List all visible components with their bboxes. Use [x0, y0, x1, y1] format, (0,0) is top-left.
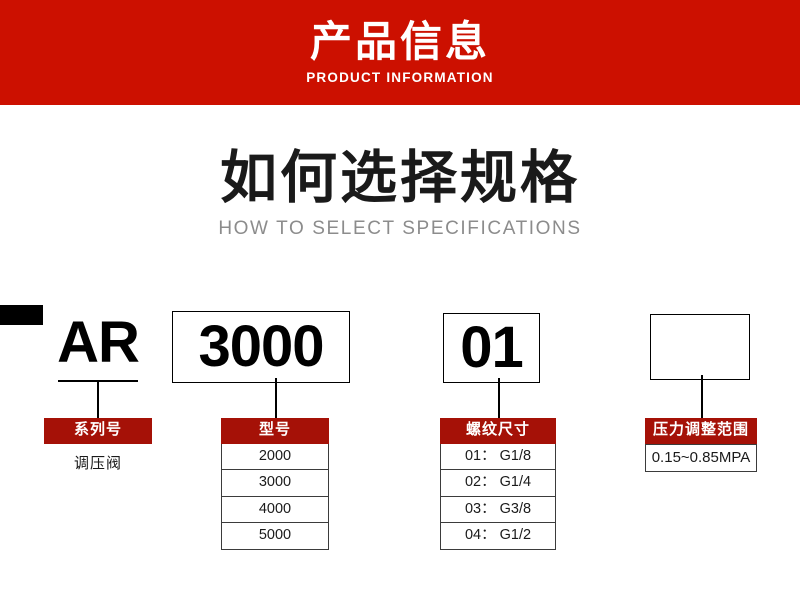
banner-title-chinese: 产品信息 [310, 20, 490, 64]
list-item: 01： G1/8 [441, 444, 555, 471]
legend-list-model: 2000 3000 4000 5000 [221, 444, 329, 550]
legend-value-pressure: 0.15~0.85MPA [645, 444, 757, 472]
model-code-row: AR 3000 01 [0, 305, 800, 385]
page-banner: 产品信息 PRODUCT INFORMATION [0, 0, 800, 105]
section-heading: 如何选择规格 HOW TO SELECT SPECIFICATIONS [0, 148, 800, 240]
legend-column-model: 型号 2000 3000 4000 5000 [221, 418, 329, 550]
legend-column-thread: 螺纹尺寸 01： G1/8 02： G1/4 03： G3/8 04： G1/2 [440, 418, 556, 550]
code-segment-model: 3000 [172, 311, 350, 383]
connector-drop-thread [498, 378, 500, 418]
legend-column-series: 系列号 调压阀 [44, 418, 152, 473]
legend-value-series: 调压阀 [44, 444, 152, 473]
legend-header-series: 系列号 [44, 418, 152, 444]
legend-header-model: 型号 [221, 418, 329, 444]
section-title-english: HOW TO SELECT SPECIFICATIONS [0, 218, 800, 240]
connector-drop-pressure [701, 375, 703, 418]
connector-drop-model [275, 378, 277, 418]
section-title-chinese: 如何选择规格 [0, 148, 800, 210]
list-item: 5000 [222, 523, 328, 549]
legend-header-thread: 螺纹尺寸 [440, 418, 556, 444]
code-separator-dash-2 [0, 315, 43, 325]
list-item: 3000 [222, 470, 328, 497]
code-segment-pressure [650, 314, 750, 380]
list-item: 02： G1/4 [441, 470, 555, 497]
connector-drop-series [97, 380, 99, 418]
legend-header-pressure: 压力调整范围 [645, 418, 757, 444]
legend-list-thread: 01： G1/8 02： G1/4 03： G3/8 04： G1/2 [440, 444, 556, 550]
list-item: 04： G1/2 [441, 523, 555, 549]
banner-title-english: PRODUCT INFORMATION [306, 70, 494, 85]
code-segment-series: AR [52, 307, 144, 379]
list-item: 03： G3/8 [441, 497, 555, 524]
list-item: 4000 [222, 497, 328, 524]
code-segment-thread: 01 [443, 313, 540, 383]
legend-column-pressure: 压力调整范围 0.15~0.85MPA [645, 418, 757, 472]
list-item: 2000 [222, 444, 328, 471]
code-separator-dash-1 [0, 305, 43, 315]
